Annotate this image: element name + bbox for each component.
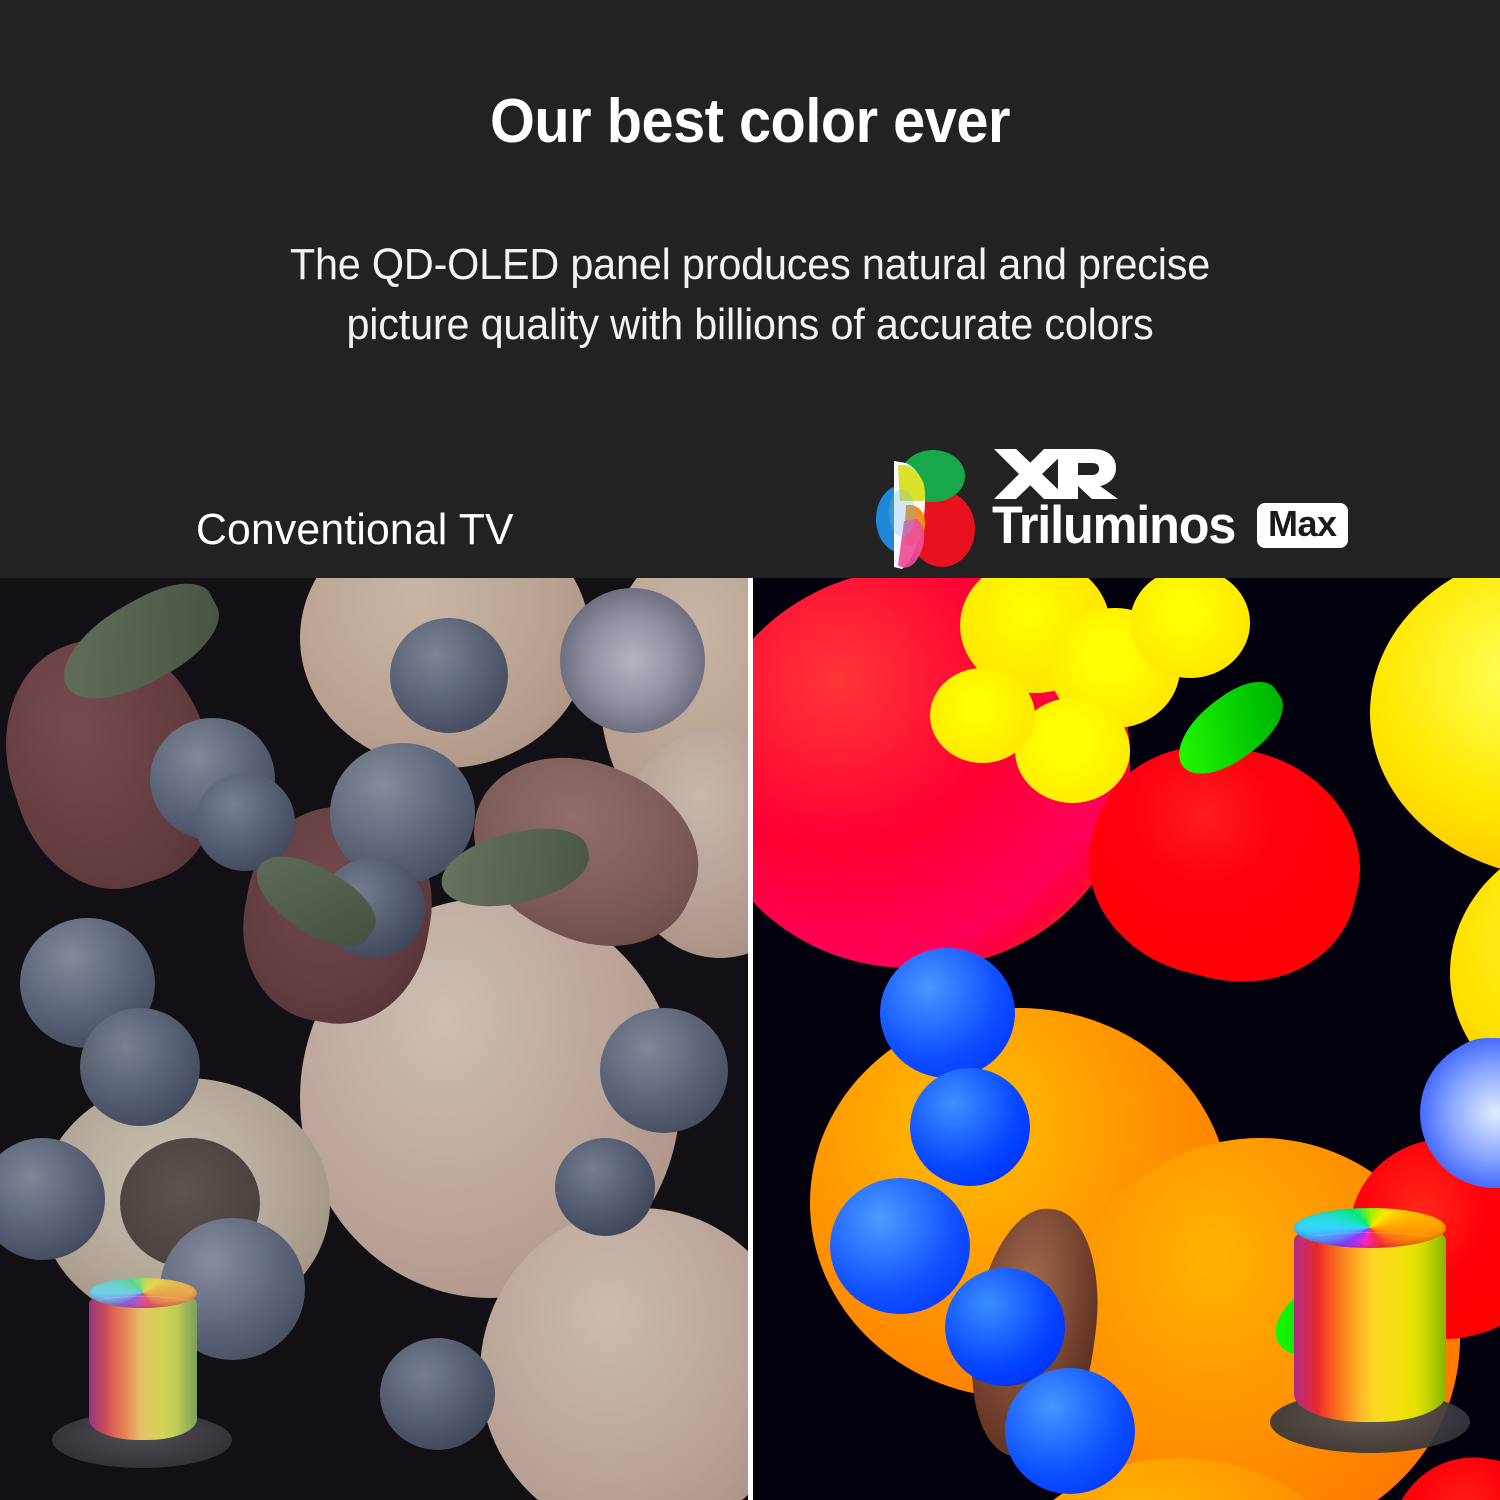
color-volume-cylinder-small — [52, 1278, 232, 1468]
page-subtitle: The QD-OLED panel produces natural and p… — [45, 235, 1455, 356]
product-feature-panel: Our best color ever The QD-OLED panel pr… — [0, 0, 1500, 1500]
xr-monogram-icon — [992, 445, 1120, 503]
cylinder-top-large — [1294, 1208, 1446, 1248]
cylinder-side-large — [1294, 1222, 1446, 1422]
header-panel: Our best color ever The QD-OLED panel pr… — [0, 0, 1500, 578]
page-title: Our best color ever — [53, 86, 1448, 157]
color-volume-cylinder-large — [1270, 1208, 1470, 1453]
subtitle-line-2: picture quality with billions of accurat… — [45, 295, 1455, 355]
comparison-divider — [748, 578, 753, 1500]
subtitle-line-1: The QD-OLED panel produces natural and p… — [45, 235, 1455, 295]
triluminos-word: Triluminos — [992, 499, 1235, 552]
triluminos-blobs-icon — [866, 443, 984, 571]
max-badge: Max — [1257, 503, 1348, 548]
cylinder-top-small — [89, 1278, 197, 1308]
conventional-tv-label: Conventional TV — [196, 505, 514, 555]
xr-triluminos-max-logo: Triluminos Max — [866, 443, 1386, 571]
cylinder-side-small — [89, 1290, 197, 1440]
triluminos-max-row: Triluminos Max — [992, 499, 1348, 552]
cylinder-body-large — [1294, 1222, 1446, 1422]
cylinder-body-small — [89, 1290, 197, 1440]
